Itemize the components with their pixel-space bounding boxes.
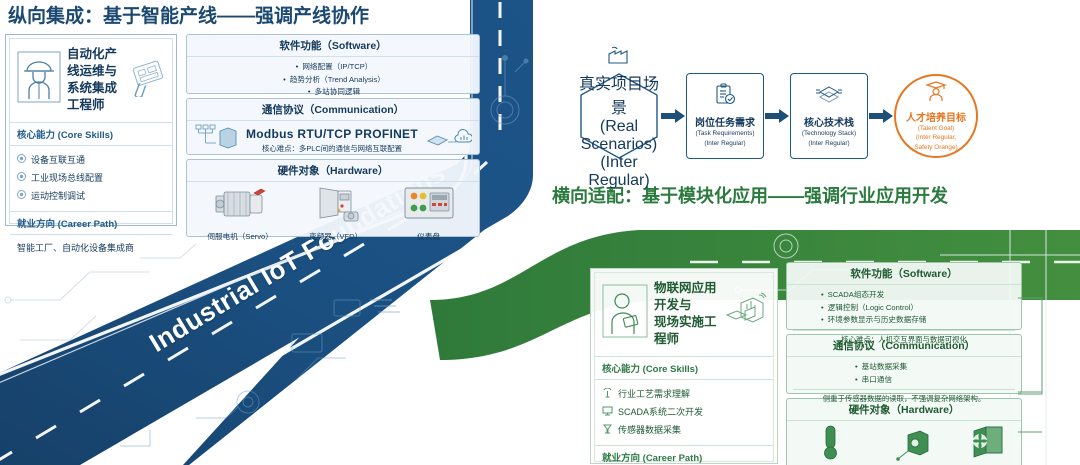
skill-label: SCADA系统二次开发	[618, 405, 703, 418]
blue-persona-card: 自动化产线运维与 系统集成工程师 核	[5, 34, 177, 226]
node-en2: (Inter Regular)	[704, 140, 745, 149]
hw-caption: 仪表盘	[399, 231, 459, 242]
green-layer-software: 软件功能（Software） SCADA组态开发 逻辑控制（Logic Cont…	[786, 262, 1022, 330]
blue-core-skills-list: 设备互联互通 工业现场总线配置 运动控制调试	[10, 146, 172, 212]
blue-layer-communication: 通信协议（Communication）	[186, 98, 480, 155]
hw-vfd: 变频器（VFD）	[306, 184, 366, 242]
blue-software-header: 软件功能（Software）	[187, 35, 479, 57]
blue-software-body: 网络配置（IP/TCP） 趋势分析（Trend Analysis） 多站协同逻辑	[187, 57, 479, 104]
target-ring-icon	[17, 172, 26, 183]
blue-hw-header: 硬件对象（Hardware）	[187, 160, 479, 182]
control-panel-icon	[399, 184, 459, 224]
header-en: （Software）	[892, 268, 957, 280]
header-cn: 硬件对象	[278, 165, 320, 177]
skill-label: 传感器数据采集	[618, 423, 681, 436]
node-title: 真实项目场景	[578, 70, 660, 118]
header-en: （Hardware）	[891, 404, 960, 416]
hw-thermometer: 温度传感器（Temp）	[795, 423, 867, 465]
bullet-item: 串口通信	[855, 374, 1015, 387]
bullet-item: 多站协同逻辑	[195, 86, 473, 99]
blue-software-bullets: 网络配置（IP/TCP） 趋势分析（Trend Analysis） 多站协同逻辑	[193, 61, 473, 99]
pipeline-node-talent-goal[interactable]: 人才培养目标 (Talent Goal) (Inter Regular, Saf…	[894, 74, 978, 158]
thermometer-icon	[813, 423, 849, 463]
bullet-item: SCADA组态开发	[821, 289, 1015, 302]
green-persona-title-line2: 现场实施工程师	[654, 314, 727, 348]
green-hw-row: 温度传感器（Temp） 测距传感器（Distance）	[787, 421, 1021, 465]
bullet-item: 网络配置（IP/TCP）	[195, 61, 473, 74]
sensor-icon	[602, 424, 613, 436]
monitor-icon	[602, 406, 613, 418]
antenna-icon	[602, 388, 613, 400]
header-en: （Communication）	[304, 104, 404, 116]
target-ring-icon	[17, 190, 26, 201]
green-stack: 软件功能（Software） SCADA组态开发 逻辑控制（Logic Cont…	[786, 262, 1022, 465]
header-en: （Software）	[321, 40, 386, 52]
engineer-tablet-icon	[602, 284, 648, 343]
node-title: 核心技术栈	[804, 114, 854, 129]
pcb-wrench-icon	[126, 57, 166, 102]
green-comm-bullets: 基站数据采集 串口通信	[793, 361, 1015, 386]
laptop-iot-icon	[725, 291, 767, 336]
right-arrow-icon	[660, 109, 686, 123]
blue-protocol-block: Modbus RTU/TCP PROFINET 核心难点：多PLC间的通信与网络…	[246, 127, 418, 154]
blue-layer-software: 软件功能（Software） 网络配置（IP/TCP） 趋势分析（Trend A…	[186, 34, 480, 94]
header-en: (Career Path)	[643, 453, 703, 464]
right-arrow-icon	[764, 109, 790, 123]
header-cn: 软件功能	[850, 268, 892, 280]
gateway-cloud-icon	[426, 123, 472, 158]
list-item: 传感器数据采集	[602, 421, 766, 439]
skill-label: 设备互联互通	[31, 153, 85, 166]
green-layer-communication: 通信协议（Communication） 基站数据采集 串口通信 侧重于传感器数据…	[786, 334, 1022, 394]
engineer-hardhat-icon	[17, 51, 61, 108]
node-en1: (Technology Stack)	[802, 130, 856, 139]
bullet-item: 基站数据采集	[855, 361, 1015, 374]
node-en1: (Task Requirements)	[696, 130, 755, 139]
node-en2: (Inter Regular)	[808, 140, 849, 149]
green-connectors	[1006, 262, 1080, 465]
node-en2: (Inter Regular)	[578, 154, 660, 190]
chip-icon	[815, 83, 843, 112]
header-en: (Core Skills)	[643, 364, 698, 375]
green-software-bullets: SCADA组态开发 逻辑控制（Logic Control） 环境参数显示与历史数…	[793, 289, 1015, 327]
skill-label: 运动控制调试	[31, 189, 85, 202]
green-persona-title: 物联网应用开发与 现场实施工程师	[654, 280, 727, 348]
header-cn: 通信协议	[262, 104, 304, 116]
green-software-header: 软件功能（Software）	[787, 263, 1021, 285]
node-en1: (Real Scenarios)	[578, 118, 660, 154]
header-cn: 就业方向	[602, 453, 640, 464]
list-item: 工业现场总线配置	[17, 169, 165, 187]
factory-icon	[606, 43, 632, 70]
list-item: 设备互联互通	[17, 151, 165, 169]
header-cn: 核心能力	[602, 364, 640, 375]
hw-distance: 测距传感器（Distance）	[875, 423, 958, 465]
blue-stack: 软件功能（Software） 网络配置（IP/TCP） 趋势分析（Trend A…	[186, 34, 480, 241]
green-persona-header: 物联网应用开发与 现场实施工程师	[595, 273, 773, 357]
blue-career-header-cn: 就业方向	[17, 219, 55, 230]
bullet-item: 趋势分析（Trend Analysis）	[195, 74, 473, 87]
blue-core-skills-header: 核心能力 (Core Skills)	[10, 123, 172, 146]
header-en: （Hardware）	[320, 165, 389, 177]
list-item: SCADA系统二次开发	[602, 403, 766, 421]
graduate-icon	[925, 80, 947, 107]
blue-hw-row: 伺服电机（Servo） 变频器（VFD）	[187, 182, 479, 242]
career-pipeline: 真实项目场景 (Real Scenarios) (Inter Regular)	[578, 72, 978, 160]
blue-career-header-en: (Career Path)	[58, 219, 118, 230]
green-career-header: 就业方向 (Career Path)	[595, 446, 773, 465]
green-core-skills-list: 行业工艺需求理解 SCADA系统二次开发 传感器数据采集	[595, 380, 773, 446]
pipeline-node-real-scenarios[interactable]: 真实项目场景 (Real Scenarios) (Inter Regular)	[578, 72, 660, 160]
header-cn: 硬件对象	[849, 404, 891, 416]
node-title: 人才培养目标	[906, 109, 966, 124]
node-en1: (Talent Goal)	[918, 125, 955, 134]
green-comm-header: 通信协议（Communication）	[787, 335, 1021, 357]
hw-servo: 伺服电机（Servo）	[207, 184, 272, 242]
blue-core-skills-header-cn: 核心能力	[17, 130, 55, 141]
blue-career-header: 就业方向 (Career Path)	[10, 212, 172, 235]
bullet-item: 逻辑控制（Logic Control）	[821, 302, 1015, 315]
plc-network-icon	[194, 123, 238, 158]
node-title: 岗位任务需求	[695, 114, 755, 129]
header-cn: 软件功能	[279, 40, 321, 52]
slide-canvas: Industrial IoT Foundations 纵向集成：基于智能产线——…	[0, 0, 1080, 465]
header-en: （Communication）	[875, 340, 975, 352]
blue-protocol-names: Modbus RTU/TCP PROFINET	[246, 127, 418, 141]
list-item: 运动控制调试	[17, 187, 165, 205]
blue-protocol-note: 核心难点：多PLC间的通信与网络互联配置	[246, 143, 418, 154]
skill-label: 工业现场总线配置	[31, 171, 103, 184]
blue-persona-title-line1: 自动化产线运维与	[67, 46, 126, 80]
target-ring-icon	[17, 154, 26, 165]
hw-caption: 变频器（VFD）	[306, 231, 366, 242]
distance-sensor-icon	[896, 423, 936, 463]
hw-panel: 仪表盘	[399, 184, 459, 242]
fan-unit-icon	[968, 423, 1010, 463]
blue-comm-header: 通信协议（Communication）	[187, 99, 479, 121]
clipboard-check-icon	[713, 83, 737, 112]
green-layer-hardware: 硬件对象（Hardware） 温度传感器（Temp）	[786, 398, 1022, 465]
pipeline-node-technology-stack[interactable]: 核心技术栈 (Technology Stack) (Inter Regular)	[790, 73, 868, 159]
bullet-item: 环境参数显示与历史数据存储	[821, 314, 1015, 327]
pipeline-node-task-requirements[interactable]: 岗位任务需求 (Task Requirements) (Inter Regula…	[686, 73, 764, 159]
green-persona-card: 物联网应用开发与 现场实施工程师 核	[590, 268, 778, 464]
list-item: 行业工艺需求理解	[602, 385, 766, 403]
node-en3: Safety Orange)	[914, 144, 957, 153]
hw-caption: 伺服电机（Servo）	[207, 231, 272, 242]
blue-layer-hardware: 硬件对象（Hardware） 伺服电机（Servo）	[186, 159, 480, 237]
green-persona-title-line1: 物联网应用开发与	[654, 280, 727, 314]
blue-career-text: 智能工厂、自动化设备集成商	[10, 235, 172, 260]
blue-core-skills-header-en: (Core Skills)	[58, 130, 113, 141]
blue-persona-title-line2: 系统集成工程师	[67, 80, 126, 114]
blue-comm-body: Modbus RTU/TCP PROFINET 核心难点：多PLC间的通信与网络…	[187, 121, 479, 162]
servo-motor-icon	[210, 184, 270, 224]
skill-label: 行业工艺需求理解	[618, 387, 690, 400]
blue-persona-header: 自动化产线运维与 系统集成工程师	[10, 39, 172, 123]
green-core-skills-header: 核心能力 (Core Skills)	[595, 357, 773, 380]
vfd-drive-icon	[306, 184, 366, 224]
header-cn: 通信协议	[833, 340, 875, 352]
node-en2: (Inter Regular,	[916, 134, 957, 143]
blue-persona-title: 自动化产线运维与 系统集成工程师	[67, 46, 126, 114]
page-title-vertical: 纵向集成：基于智能产线——强调产线协作	[8, 1, 369, 28]
right-arrow-icon	[868, 109, 894, 123]
